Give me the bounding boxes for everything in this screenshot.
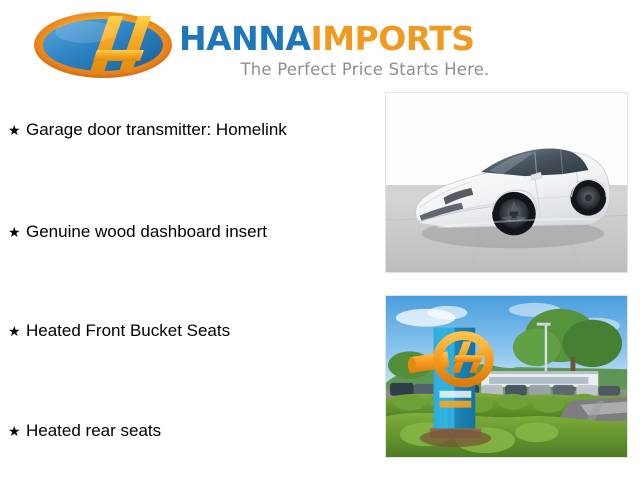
feature-label: Garage door transmitter: Homelink — [26, 120, 287, 140]
brand-wordmark: HANNAIMPORTS — [179, 20, 523, 58]
dealership-photo[interactable] — [385, 295, 628, 458]
hanna-oval-h-emblem-icon — [33, 10, 173, 80]
star-bullet-icon: ★ — [8, 223, 26, 241]
list-item: ★ Garage door transmitter: Homelink — [8, 118, 378, 142]
star-bullet-icon: ★ — [8, 121, 26, 139]
vehicle-features-list: ★ Garage door transmitter: Homelink ★ Ge… — [0, 92, 380, 480]
feature-label: Genuine wood dashboard insert — [26, 222, 267, 242]
brand-tagline: The Perfect Price Starts Here. — [205, 60, 525, 79]
star-bullet-icon: ★ — [8, 422, 26, 440]
list-item: ★ Genuine wood dashboard insert — [8, 220, 378, 244]
header-banner: HANNAIMPORTS The Perfect Price Starts He… — [0, 0, 640, 92]
feature-label: Heated Front Bucket Seats — [26, 321, 230, 341]
feature-label: Heated rear seats — [26, 421, 161, 441]
list-item: ★ Heated rear seats — [8, 419, 378, 443]
star-bullet-icon: ★ — [8, 322, 26, 340]
hanna-imports-logo[interactable]: HANNAIMPORTS The Perfect Price Starts He… — [33, 8, 523, 84]
brand-name-hanna: HANNA — [179, 19, 310, 58]
brand-name-imports: IMPORTS — [310, 19, 474, 58]
list-item: ★ Heated Front Bucket Seats — [8, 319, 378, 343]
vehicle-photo[interactable] — [385, 92, 628, 273]
